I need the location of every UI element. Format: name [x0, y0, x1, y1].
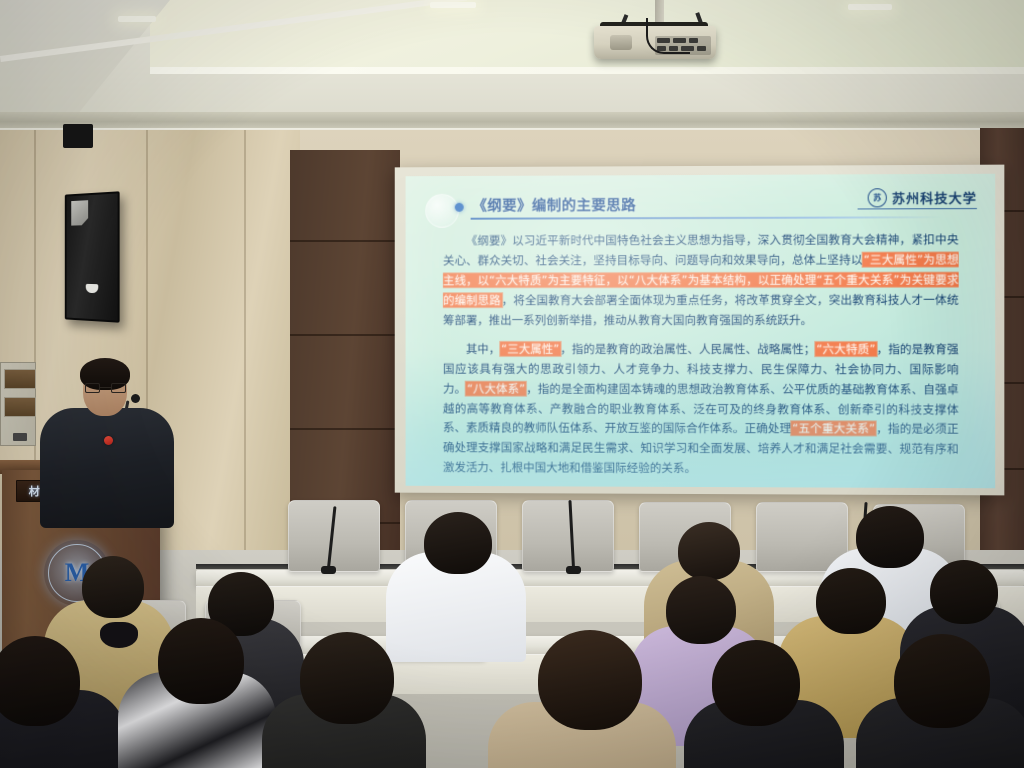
university-logo-rule: [858, 208, 977, 209]
ceiling-beam: [0, 112, 1024, 128]
slide-title: 《纲要》编制的主要思路: [473, 194, 637, 215]
university-logo-badge: 苏: [868, 188, 887, 207]
slide-title-underline: [471, 216, 943, 219]
presenter-glasses: [85, 383, 126, 393]
projector-cable: [646, 18, 690, 54]
slide-paragraph: 《纲要》以习近平新时代中国特色社会主义思想为指导，深入贯彻全国教育大会精神，紧扣…: [443, 230, 959, 330]
speaker-label: [71, 200, 88, 225]
projector-lens: [610, 35, 632, 50]
ceiling-light-1: [118, 16, 156, 22]
presenter-lapel-badge: [104, 436, 113, 445]
wall-seam-3: [244, 130, 246, 560]
slide-paragraph: 其中，“三大属性”，指的是教育的政治属性、人民属性、战略属性；“六大特质”，指的…: [443, 340, 959, 481]
attendee-head: [82, 556, 144, 618]
attendee-head: [300, 632, 394, 724]
wall-panel-seg: [290, 150, 400, 242]
slide-highlighted-text: “三大属性”: [500, 342, 560, 356]
chair-back-3: [522, 500, 614, 572]
attendee-head: [424, 512, 492, 574]
ceiling-light-2: [430, 2, 476, 8]
attendee-hair-bow: [100, 622, 138, 648]
attendee-head: [538, 630, 642, 730]
projection-screen: 《纲要》编制的主要思路 苏 苏州科技大学 《纲要》以习近平新时代中国特色社会主义…: [406, 174, 996, 489]
microphone-base-back-2: [566, 566, 581, 574]
podium-microphone-head: [131, 394, 140, 403]
wall-panel-seg: [290, 338, 400, 430]
wall-dark-panel-center: [290, 150, 400, 550]
ceiling-light-3: [848, 4, 892, 10]
attendee-head: [894, 634, 990, 728]
speaker-wall-bracket: [63, 124, 93, 148]
slide-decoration-circle: [425, 194, 458, 228]
attendee-head: [930, 560, 998, 624]
slide-plain-text: ，将全国教育大会部署全面体现为重点任务，将改革贯穿全文，突出教育科技人才一体统筹…: [443, 293, 959, 327]
wall-speaker-jbl: [65, 191, 120, 322]
slide-plain-text: ，指的是教育的政治属性、人民属性、战略属性；: [560, 342, 815, 356]
attendee-head: [0, 636, 80, 726]
slide-decoration-dot: [455, 203, 464, 212]
ceiling: [0, 0, 1024, 120]
wall-panel-seg: [290, 244, 400, 336]
slide-highlighted-text: “六大特质”: [815, 342, 876, 356]
attendee-head: [678, 522, 740, 580]
attendee-head: [856, 506, 924, 568]
panel-switch[interactable]: [13, 433, 27, 441]
microphone-base-back-1: [321, 566, 336, 574]
attendee-head: [712, 640, 800, 726]
attendee-head: [666, 576, 736, 644]
slide-highlighted-text: “五个重大关系”: [791, 422, 876, 436]
lecture-hall-photo: 《纲要》编制的主要思路 苏 苏州科技大学 《纲要》以习近平新时代中国特色社会主义…: [0, 0, 1024, 768]
slide-plain-text: 其中，: [466, 342, 500, 356]
speaker-logo-badge: [85, 284, 97, 293]
university-logo: 苏 苏州科技大学: [868, 188, 977, 208]
slide-highlighted-text: “八大体系”: [466, 381, 526, 395]
panel-slot-lower: [4, 397, 36, 417]
attendee-head: [816, 568, 886, 634]
presenter-body: [40, 408, 174, 528]
university-logo-text: 苏州科技大学: [892, 188, 977, 207]
wall-electrical-panel[interactable]: [0, 362, 36, 446]
attendee-head: [158, 618, 244, 704]
slide-body-text: 《纲要》以习近平新时代中国特色社会主义思想为指导，深入贯彻全国教育大会精神，紧扣…: [443, 230, 959, 488]
panel-slot-upper: [4, 369, 36, 389]
